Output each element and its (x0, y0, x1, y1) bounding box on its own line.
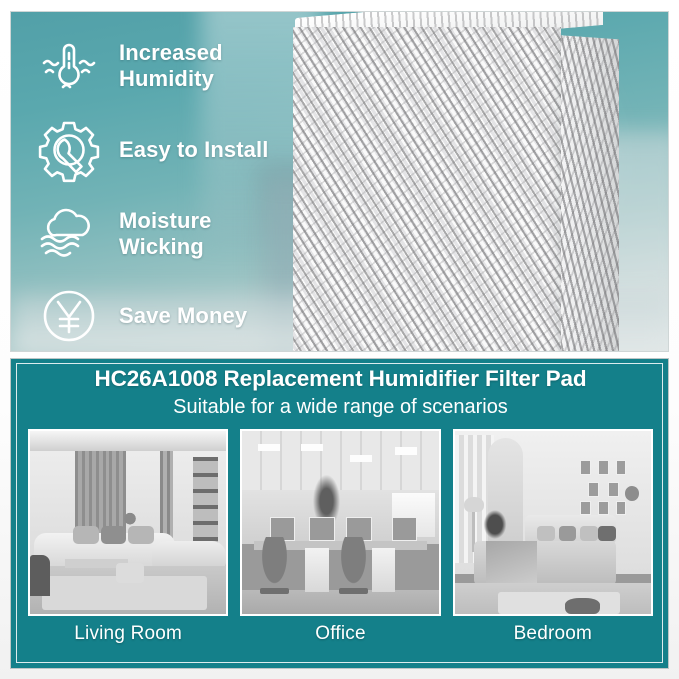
scenario-card-living-room: Living Room (28, 429, 228, 659)
product-infographic: Increased Humidity Easy to Install (0, 0, 679, 679)
feature-item-increased-humidity: Increased Humidity (33, 26, 311, 106)
feature-label: Save Money (119, 303, 247, 329)
scenario-label: Bedroom (453, 623, 653, 645)
humidifier-filter-pad-image (293, 18, 623, 352)
product-subtitle: Suitable for a wide range of scenarios (11, 396, 670, 419)
feature-label: Easy to Install (119, 137, 268, 163)
product-title: HC26A1008 Replacement Humidifier Filter … (11, 366, 670, 392)
scenario-label: Living Room (28, 623, 228, 645)
features-panel: Increased Humidity Easy to Install (10, 11, 669, 352)
cloud-waves-icon (33, 198, 105, 270)
gear-wrench-icon (33, 114, 105, 186)
feature-list: Increased Humidity Easy to Install (11, 12, 311, 352)
feature-item-moisture-wicking: Moisture Wicking (33, 194, 311, 274)
scenario-card-bedroom: Bedroom (453, 429, 653, 659)
scenario-label: Office (240, 623, 440, 645)
feature-label: Increased Humidity (119, 40, 223, 91)
bedroom-photo (453, 429, 653, 616)
filter-pad-side-edge (557, 35, 619, 352)
living-room-photo (28, 429, 228, 616)
scenario-card-office: Office (240, 429, 440, 659)
scenario-card-list: Living Room (28, 429, 653, 659)
feature-item-save-money: Save Money (33, 276, 311, 352)
feature-label: Moisture Wicking (119, 208, 211, 259)
scenarios-panel: HC26A1008 Replacement Humidifier Filter … (10, 358, 669, 669)
feature-item-easy-to-install: Easy to Install (33, 110, 311, 190)
office-photo (240, 429, 440, 616)
thermometer-humidity-icon (33, 30, 105, 102)
yen-coin-icon (33, 280, 105, 352)
filter-pad-mesh-face (293, 27, 561, 352)
